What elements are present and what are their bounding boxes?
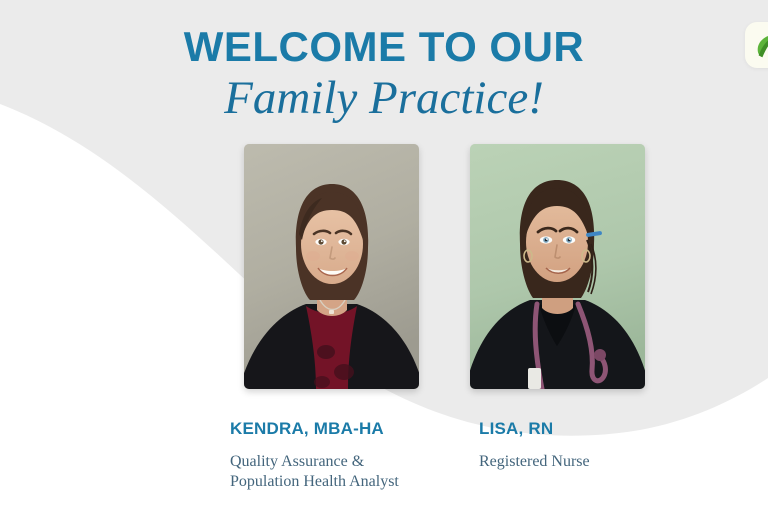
staff-name-kendra: KENDRA, MBA-HA: [230, 419, 419, 439]
kendra-portrait: [244, 144, 419, 389]
lisa-portrait: [470, 144, 645, 389]
staff-role-lisa: Registered Nurse: [479, 452, 645, 472]
staff-role-kendra: Quality Assurance & Population Health An…: [230, 452, 419, 493]
page-title-script: Family Practice!: [0, 72, 768, 125]
lisa-photo-frame: [470, 144, 645, 389]
welcome-graphic: WELCOME TO OUR Family Practice!: [0, 0, 768, 512]
staff-row: KENDRA, MBA-HA Quality Assurance & Popul…: [244, 144, 645, 493]
page-title-primary: WELCOME TO OUR: [0, 26, 768, 68]
staff-name-lisa: LISA, RN: [479, 419, 645, 439]
heading-block: WELCOME TO OUR Family Practice!: [0, 0, 768, 125]
staff-card-lisa: LISA, RN Registered Nurse: [470, 144, 645, 472]
kendra-photo-frame: [244, 144, 419, 389]
staff-card-kendra: KENDRA, MBA-HA Quality Assurance & Popul…: [244, 144, 419, 493]
